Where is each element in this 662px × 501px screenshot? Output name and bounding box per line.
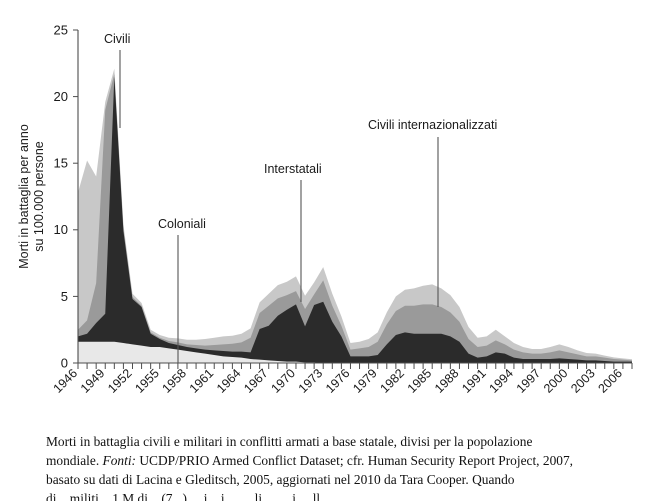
x-tick-label: 1949 [78, 366, 108, 396]
x-tick-label: 1985 [405, 366, 435, 396]
chart-figure: 0510152025 19461949195219551958196119641… [0, 0, 662, 424]
x-tick-label: 1994 [486, 366, 516, 396]
stacked-areas [78, 69, 632, 363]
x-tick-label: 1958 [160, 366, 190, 396]
x-tick-label: 2003 [568, 366, 598, 396]
x-axis-ticks: 1946194919521955195819611964196719701973… [51, 363, 632, 396]
x-tick-label: 1946 [51, 366, 81, 396]
x-tick-label: 2006 [595, 366, 625, 396]
battle-deaths-area-chart: 0510152025 19461949195219551958196119641… [0, 0, 662, 424]
area-civili-internazionalizzati [78, 69, 632, 363]
annotation-label-civili-internazionalizzati: Civili internazionalizzati [368, 118, 497, 132]
y-tick-label: 15 [54, 156, 68, 171]
y-tick-label: 20 [54, 89, 68, 104]
x-tick-label: 1979 [350, 366, 380, 396]
x-tick-label: 1964 [214, 366, 244, 396]
caption-line-1: Morti in battaglia civili e militari in … [46, 432, 624, 451]
y-axis-label: Morti in battaglia per annosu 100.000 pe… [17, 124, 46, 269]
x-tick-label: 2000 [541, 366, 571, 396]
x-tick-label: 1982 [378, 366, 408, 396]
annotation-label-interstatali: Interstatali [264, 162, 322, 176]
x-tick-label: 1988 [432, 366, 462, 396]
caption-line-3: basato su dati di Lacina e Gleditsch, 20… [46, 470, 624, 489]
x-tick-label: 1955 [132, 366, 162, 396]
caption-line-2: mondiale. Fonti: UCDP/PRIO Armed Conflic… [46, 451, 624, 470]
caption-line2-a: mondiale. [46, 453, 103, 468]
y-tick-label: 10 [54, 222, 68, 237]
x-tick-label: 1970 [269, 366, 299, 396]
x-tick-label: 1991 [459, 366, 489, 396]
annotation-label-coloniali: Coloniali [158, 217, 206, 231]
y-axis-label-line-1: Morti in battaglia per anno [17, 124, 31, 269]
caption-line-4-clipped: di... militi... 1 M di... (7...) ... i..… [46, 489, 624, 501]
x-tick-label: 1973 [296, 366, 326, 396]
y-tick-label: 5 [61, 289, 68, 304]
chart-axes [78, 30, 632, 363]
x-tick-label: 1997 [514, 366, 544, 396]
x-tick-label: 1961 [187, 366, 217, 396]
caption-fonti-label: Fonti: [103, 453, 136, 468]
x-tick-label: 1976 [323, 366, 353, 396]
y-axis-label-line-2: su 100.000 persone [32, 141, 46, 252]
x-tick-label: 1952 [105, 366, 135, 396]
annotation-label-civili: Civili [104, 32, 130, 46]
y-axis-ticks: 0510152025 [54, 22, 78, 370]
y-tick-label: 25 [54, 22, 68, 37]
caption-source-smallcaps: UCDP/PRIO [136, 453, 209, 468]
figure-caption: Morti in battaglia civili e militari in … [46, 432, 624, 501]
x-tick-label: 1967 [241, 366, 271, 396]
caption-line2-b: Armed Conflict Dataset; cfr. Human Secur… [209, 453, 573, 468]
